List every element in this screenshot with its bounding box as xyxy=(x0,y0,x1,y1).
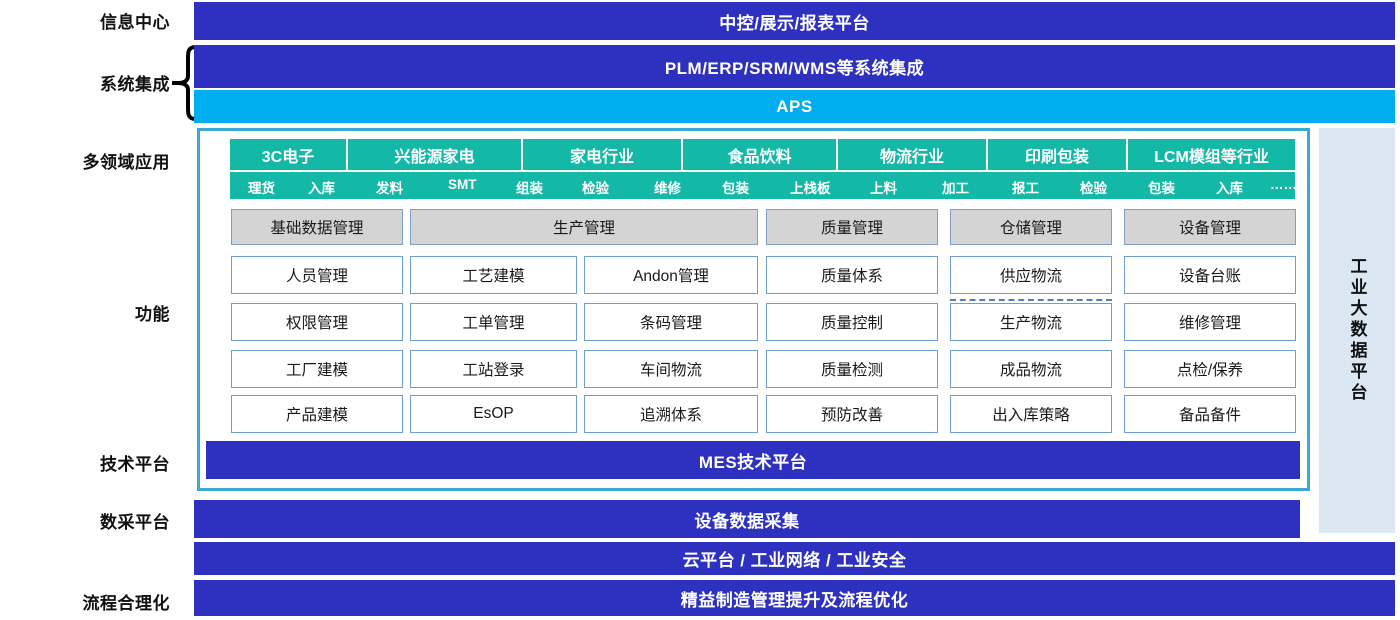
function-item-workstation-login[interactable]: 工站登录 xyxy=(410,350,577,388)
function-item-quality-control[interactable]: 质量控制 xyxy=(766,303,938,341)
function-header-equipment-management[interactable]: 设备管理 xyxy=(1124,209,1296,245)
function-item-quality-system[interactable]: 质量体系 xyxy=(766,256,938,294)
bar-mes-technology-platform[interactable]: MES技术平台 xyxy=(206,441,1300,479)
function-item-supply-logistics[interactable]: 供应物流 xyxy=(950,256,1112,294)
function-item-inbound-outbound-strategy[interactable]: 出入库策略 xyxy=(950,395,1112,433)
function-item-finished-goods-logistics[interactable]: 成品物流 xyxy=(950,350,1112,388)
function-item-personnel-management[interactable]: 人员管理 xyxy=(231,256,403,294)
function-item-barcode-management[interactable]: 条码管理 xyxy=(584,303,758,341)
function-header-basic-data-management[interactable]: 基础数据管理 xyxy=(231,209,403,245)
warehouse-dashed-divider xyxy=(950,299,1112,301)
function-header-production-management[interactable]: 生产管理 xyxy=(410,209,758,245)
function-item-process-modeling[interactable]: 工艺建模 xyxy=(410,256,577,294)
architecture-diagram: 信息中心 系统集成 多领域应用 功能 技术平台 数采平台 流程合理化 中控/展示… xyxy=(0,0,1400,620)
function-item-workshop-logistics[interactable]: 车间物流 xyxy=(584,350,758,388)
function-header-quality-management[interactable]: 质量管理 xyxy=(766,209,938,245)
function-item-equipment-ledger[interactable]: 设备台账 xyxy=(1124,256,1296,294)
function-item-authority-management[interactable]: 权限管理 xyxy=(231,303,403,341)
bar-cloud-network-security[interactable]: 云平台 / 工业网络 / 工业安全 xyxy=(194,542,1395,575)
function-item-spare-parts[interactable]: 备品备件 xyxy=(1124,395,1296,433)
function-item-product-modeling[interactable]: 产品建模 xyxy=(231,395,403,433)
function-item-andon-management[interactable]: Andon管理 xyxy=(584,256,758,294)
function-item-work-order-management[interactable]: 工单管理 xyxy=(410,303,577,341)
function-item-esop[interactable]: EsOP xyxy=(410,395,577,433)
function-item-factory-modeling[interactable]: 工厂建模 xyxy=(231,350,403,388)
function-item-maintenance-management[interactable]: 维修管理 xyxy=(1124,303,1296,341)
function-item-quality-inspection[interactable]: 质量检测 xyxy=(766,350,938,388)
function-header-warehouse-management[interactable]: 仓储管理 xyxy=(950,209,1112,245)
bar-equipment-data-acquisition[interactable]: 设备数据采集 xyxy=(194,500,1300,538)
function-item-inspection-upkeep[interactable]: 点检/保养 xyxy=(1124,350,1296,388)
bar-lean-manufacturing[interactable]: 精益制造管理提升及流程优化 xyxy=(194,580,1395,616)
function-item-production-logistics[interactable]: 生产物流 xyxy=(950,303,1112,341)
function-item-traceability-system[interactable]: 追溯体系 xyxy=(584,395,758,433)
function-item-preventive-improvement[interactable]: 预防改善 xyxy=(766,395,938,433)
